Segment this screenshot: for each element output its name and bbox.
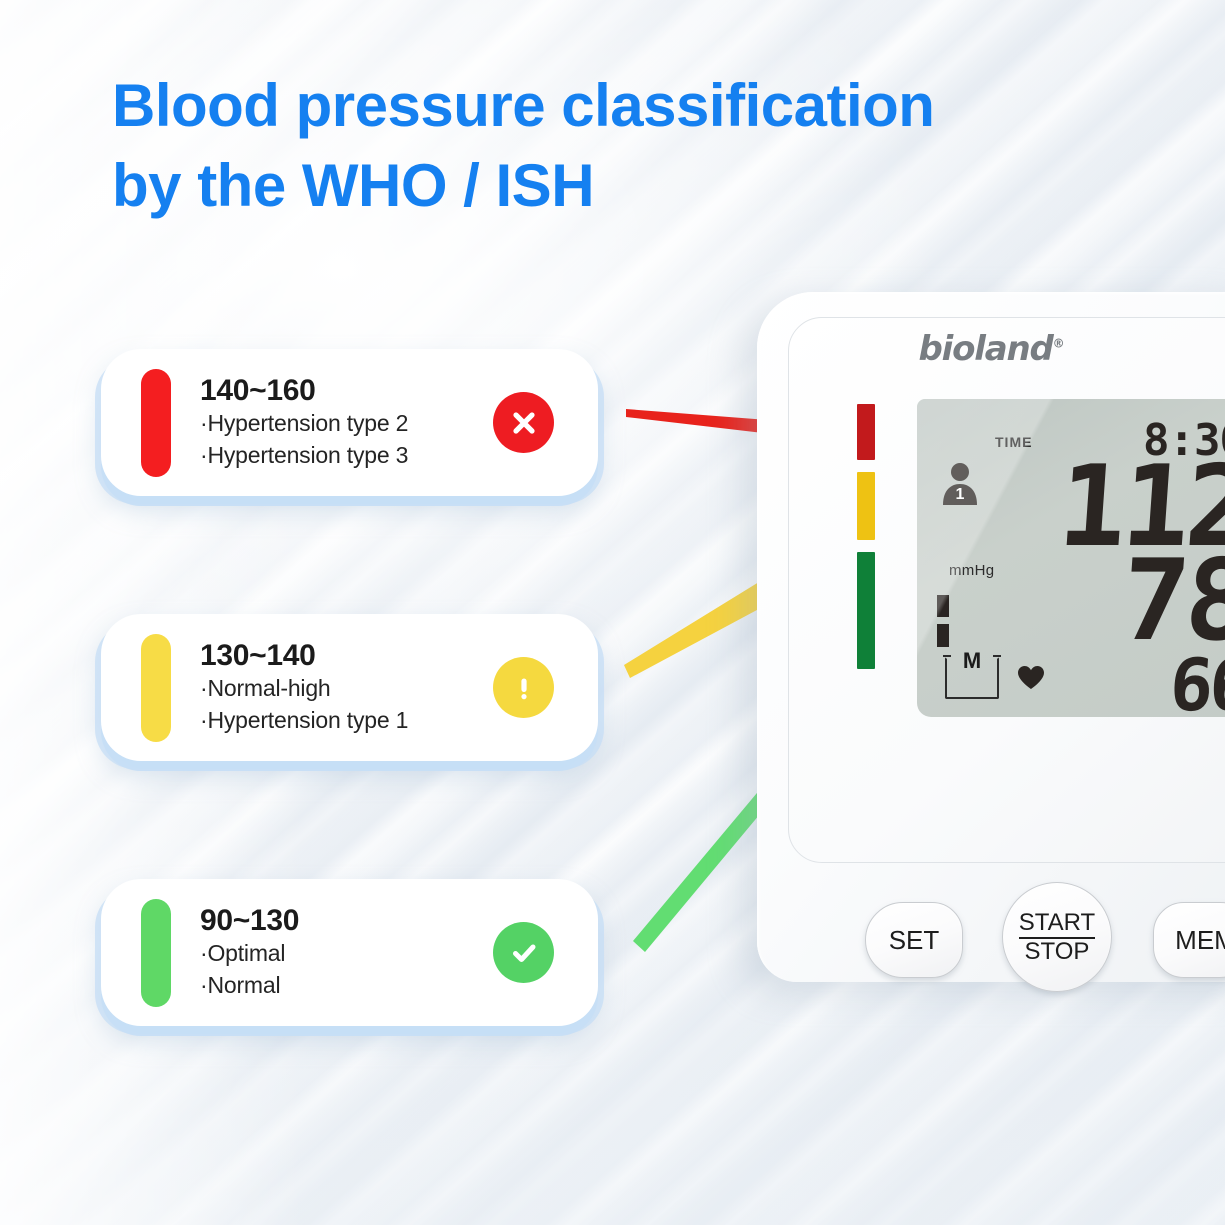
exclamation-circle-icon xyxy=(493,657,554,718)
condition-item: ·Hypertension type 2 xyxy=(200,408,493,440)
brand-logo: bioland® xyxy=(757,329,1225,369)
page-title-line-1: Blood pressure classification xyxy=(112,72,934,139)
card-text-block: 90~130 ·Optimal ·Normal xyxy=(200,903,493,1002)
range-label: 130~140 xyxy=(200,638,493,673)
start-stop-button[interactable]: START STOP xyxy=(1002,882,1112,992)
check-circle-icon xyxy=(493,922,554,983)
stop-label: STOP xyxy=(1019,939,1095,965)
red-indicator-bar xyxy=(857,404,875,460)
mem-button-label: MEM xyxy=(1175,925,1225,956)
card-text-block: 140~160 ·Hypertension type 2 ·Hypertensi… xyxy=(200,373,493,472)
condition-item: ·Normal-high xyxy=(200,673,493,705)
condition-item: ·Hypertension type 1 xyxy=(200,705,493,737)
page-title-line-2: by the WHO / ISH xyxy=(112,146,1172,226)
classification-card-normal[interactable]: 90~130 ·Optimal ·Normal xyxy=(101,879,598,1026)
accent-bar-yellow xyxy=(141,634,171,742)
cross-circle-icon xyxy=(493,392,554,453)
range-label: 90~130 xyxy=(200,903,493,938)
condition-item: ·Optimal xyxy=(200,938,493,970)
green-indicator-bar xyxy=(857,552,875,669)
classification-card-normal-high[interactable]: 130~140 ·Normal-high ·Hypertension type … xyxy=(101,614,598,761)
range-label: 140~160 xyxy=(200,373,493,408)
condition-item: ·Normal xyxy=(200,970,493,1002)
start-stop-inner: START STOP xyxy=(1017,910,1097,965)
blood-pressure-monitor: bioland® TIME 8:30 1 mmHg 112 78 66 M xyxy=(757,292,1225,982)
set-button[interactable]: SET xyxy=(865,902,963,978)
lcd-glare xyxy=(917,399,1225,717)
condition-item: ·Hypertension type 3 xyxy=(200,440,493,472)
accent-bar-red xyxy=(141,369,171,477)
classification-card-high[interactable]: 140~160 ·Hypertension type 2 ·Hypertensi… xyxy=(101,349,598,496)
accent-bar-green xyxy=(141,899,171,1007)
mem-button[interactable]: MEM xyxy=(1153,902,1225,978)
brand-name: bioland xyxy=(919,329,1053,369)
start-label: START xyxy=(1019,910,1095,939)
yellow-indicator-bar xyxy=(857,472,875,540)
lcd-screen: TIME 8:30 1 mmHg 112 78 66 M xyxy=(917,399,1225,717)
set-button-label: SET xyxy=(889,925,940,956)
registered-mark: ® xyxy=(1053,337,1064,351)
card-text-block: 130~140 ·Normal-high ·Hypertension type … xyxy=(200,638,493,737)
page-title: Blood pressure classification by the WHO… xyxy=(112,66,1172,226)
